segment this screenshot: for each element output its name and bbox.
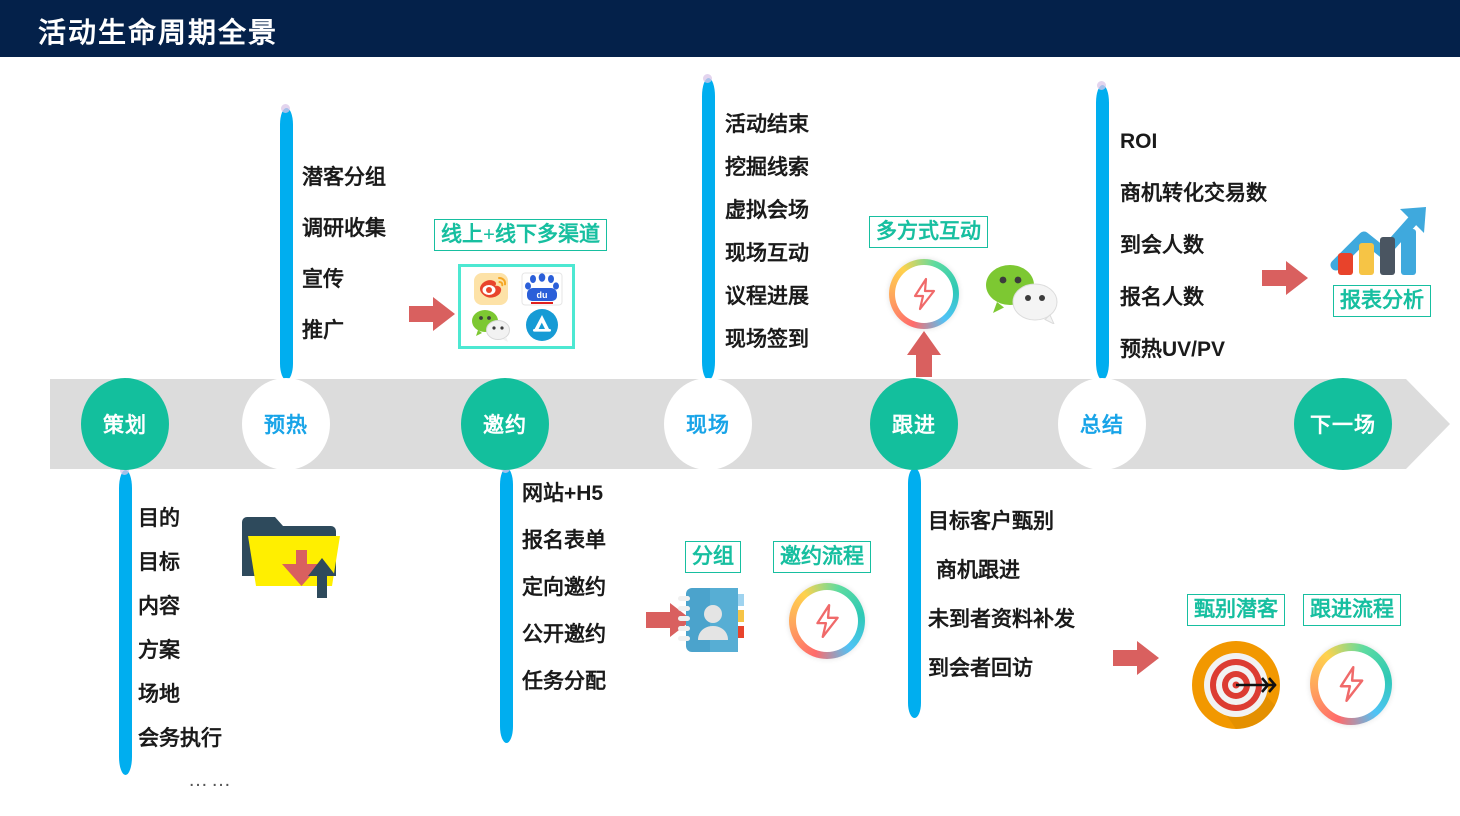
list-item: 到会人数: [1120, 235, 1267, 256]
list-item: 活动结束: [725, 114, 809, 135]
connector-onsite: [702, 78, 715, 380]
stage-circle-xianchang[interactable]: 现场: [664, 378, 752, 470]
stage-label: 跟进: [892, 409, 936, 439]
folder-sync-icon: [238, 508, 348, 608]
appstore-icon: [518, 308, 568, 342]
page-title: 活动生命周期全景: [38, 11, 278, 51]
list-item: 网站+H5: [522, 483, 606, 504]
chip-screen-leads: 甄别潜客: [1187, 594, 1285, 626]
list-item: 定向邀约: [522, 577, 606, 598]
arrow-warmup-to-social: [409, 297, 455, 331]
baidu-icon: du: [518, 272, 568, 306]
target-arrow-icon: [1190, 640, 1282, 730]
timeline-arrow-tip: [1406, 379, 1450, 469]
stage-label: 邀约: [483, 409, 527, 439]
list-item: 报名表单: [522, 530, 606, 551]
stage-label: 现场: [686, 409, 730, 439]
list-item: 目标客户甄别: [928, 511, 1075, 532]
connector-warmup: [280, 108, 293, 380]
followup-item-list: 目标客户甄别 商机跟进 未到者资料补发 到会者回访: [928, 511, 1075, 679]
list-item: 商机跟进: [936, 560, 1075, 581]
chip-warmup-channels: 线上+线下多渠道: [434, 219, 607, 251]
stage-circle-xiayichang[interactable]: 下一场: [1294, 378, 1392, 470]
list-item: 现场签到: [725, 329, 809, 350]
list-item: 场地: [138, 684, 234, 705]
page-banner: 活动生命周期全景: [0, 0, 1460, 57]
list-item: 公开邀约: [522, 624, 606, 645]
list-item: 内容: [138, 596, 234, 617]
warmup-item-list: 潜客分组 调研收集 宣传 推广: [302, 167, 386, 341]
arrow-onsite-up: [907, 331, 941, 377]
list-item: 潜客分组: [302, 167, 386, 188]
list-item: 到会者回访: [928, 658, 1075, 679]
stage-label: 预热: [264, 409, 308, 439]
wechat-icon: [982, 262, 1062, 324]
list-item: 挖掘线索: [725, 157, 809, 178]
chip-followup-flow: 跟进流程: [1303, 594, 1401, 626]
stage-circle-cehua[interactable]: 策划: [81, 378, 169, 470]
stage-circle-zongjie[interactable]: 总结: [1058, 378, 1146, 470]
lightning-circle-icon: [889, 259, 959, 329]
list-item: 议程进展: [725, 286, 809, 307]
list-item: 虚拟会场: [725, 200, 809, 221]
list-item: 任务分配: [522, 671, 606, 692]
list-item: 宣传: [302, 269, 386, 290]
list-item: 方案: [138, 640, 234, 661]
arrow-followup-to-icons: [1113, 641, 1159, 675]
growth-bar-chart-icon: [1330, 203, 1436, 285]
connector-summary: [1096, 85, 1109, 380]
onsite-item-list: 活动结束 挖掘线索 虚拟会场 现场互动 议程进展 现场签到: [725, 114, 809, 350]
plan-item-list: 目的 目标 内容 方案 场地 会务执行 ……: [138, 508, 234, 792]
stage-label: 下一场: [1310, 409, 1376, 439]
arrow-summary-to-report: [1262, 261, 1308, 295]
plan-list-ellipsis: ……: [188, 769, 234, 792]
warmup-social-icon-box: du: [458, 264, 575, 349]
connector-invite: [500, 468, 513, 743]
stage-circle-yaoyue[interactable]: 邀约: [461, 378, 549, 470]
lightning-circle-icon: [789, 583, 865, 659]
chip-invite-flow: 邀约流程: [773, 541, 871, 573]
list-item: ROI: [1120, 131, 1267, 152]
list-item: 现场互动: [725, 243, 809, 264]
list-item: 目标: [138, 552, 234, 573]
svg-text:du: du: [537, 290, 548, 300]
contact-book-icon: [676, 580, 762, 660]
stage-circle-yure[interactable]: 预热: [242, 378, 330, 470]
lightning-circle-icon: [1310, 643, 1392, 725]
connector-plan: [119, 470, 132, 775]
list-item: 未到者资料补发: [928, 609, 1075, 630]
connector-followup: [908, 468, 921, 718]
summary-item-list: ROI 商机转化交易数 到会人数 报名人数 预热UV/PV: [1120, 131, 1267, 360]
list-item: 调研收集: [302, 218, 386, 239]
chip-invite-group: 分组: [685, 541, 741, 573]
list-item: 商机转化交易数: [1120, 183, 1267, 204]
wechat-icon: [466, 308, 516, 342]
list-item: 会务执行: [138, 728, 234, 749]
list-item: 推广: [302, 320, 386, 341]
list-item: 目的: [138, 508, 234, 529]
stage-circle-genjin[interactable]: 跟进: [870, 378, 958, 470]
list-item: 报名人数: [1120, 287, 1267, 308]
chip-report-analysis: 报表分析: [1333, 285, 1431, 317]
weibo-icon: [466, 272, 516, 306]
stage-label: 策划: [103, 409, 147, 439]
invite-item-list: 网站+H5 报名表单 定向邀约 公开邀约 任务分配: [522, 483, 606, 692]
list-item: 预热UV/PV: [1120, 339, 1267, 360]
stage-label: 总结: [1080, 409, 1124, 439]
chip-onsite-interaction: 多方式互动: [869, 216, 988, 248]
